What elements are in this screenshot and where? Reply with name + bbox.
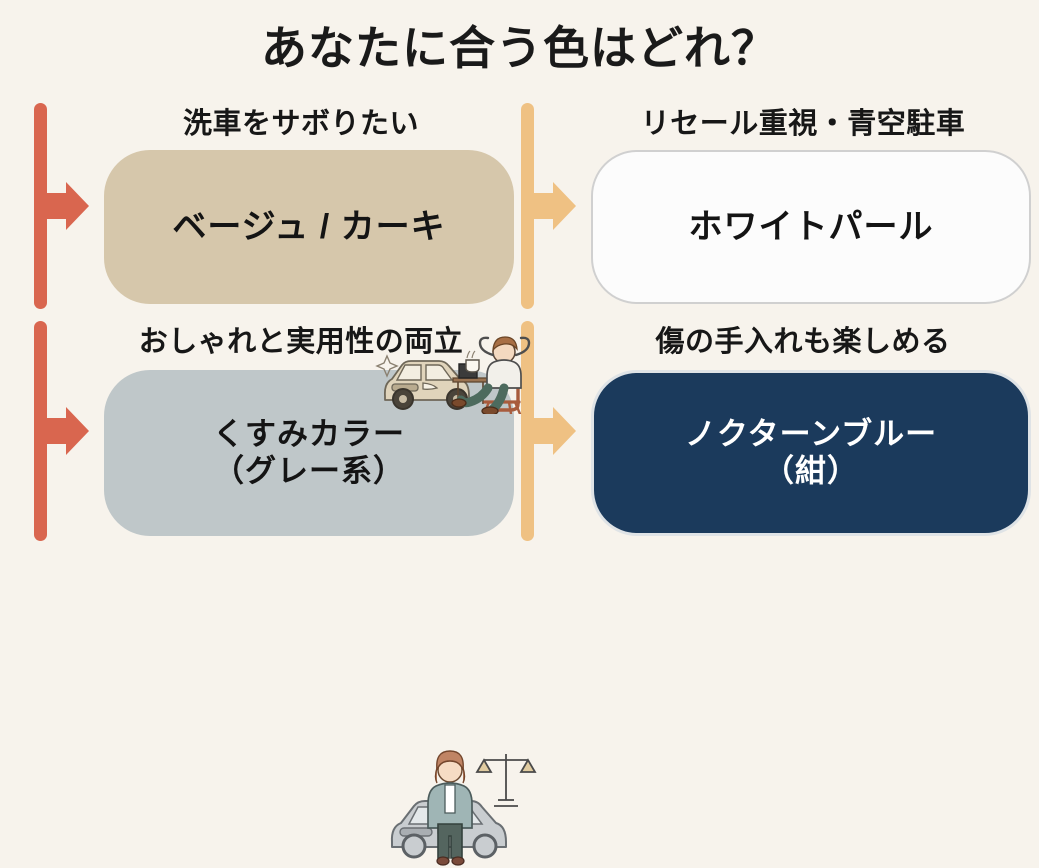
answer-label-top-right: ホワイトパール [593, 207, 1029, 247]
answer-box-bottom-left[interactable]: くすみカラー （グレー系） [104, 370, 514, 536]
answer-label-bottom-left: くすみカラー （グレー系） [104, 416, 514, 489]
infographic-page: あなたに合う色はどれ？ 洗車をサボりたい ベージュ / カーキ [0, 0, 1039, 550]
arrow-red-top-left [28, 100, 88, 312]
balance-scale-icon [477, 754, 535, 806]
quadrant-bottom-left: おしゃれと実用性の両立 くすみカラー （グレー系） [28, 318, 514, 544]
answer-box-top-right[interactable]: ホワイトパール [591, 150, 1031, 304]
heading-bottom-left: おしゃれと実用性の両立 [88, 318, 514, 360]
arrow-red-bottom-left [28, 318, 88, 544]
arrow-head-icon [66, 182, 89, 230]
answer-label-bottom-right: ノクターンブルー （紺） [594, 416, 1028, 489]
heading-top-left: 洗車をサボりたい [88, 100, 514, 142]
answer-box-bottom-right[interactable]: ノクターンブルー （紺） [591, 370, 1031, 536]
answer-box-top-left[interactable]: ベージュ / カーキ [104, 150, 514, 304]
answer-label-top-left: ベージュ / カーキ [104, 207, 514, 247]
page-title: あなたに合う色はどれ？ [0, 12, 1039, 78]
quadrant-bottom-right: 傷の手入れも楽しめる ノクターンブルー （紺） [515, 318, 1031, 544]
arrow-tan-bottom-right [515, 318, 575, 544]
arrow-head-icon [553, 182, 576, 230]
illustration-woman-gray-car-balance-scale [388, 736, 540, 866]
heading-bottom-right: 傷の手入れも楽しめる [575, 318, 1031, 360]
heading-top-right: リセール重視・青空駐車 [575, 100, 1031, 142]
arrow-head-icon [66, 407, 89, 455]
arrow-head-icon [553, 407, 576, 455]
arrow-tan-top-right [515, 100, 575, 312]
quadrant-top-left: 洗車をサボりたい ベージュ / カーキ [28, 100, 514, 312]
quadrant-top-right: リセール重視・青空駐車 ホワイトパール [515, 100, 1031, 312]
